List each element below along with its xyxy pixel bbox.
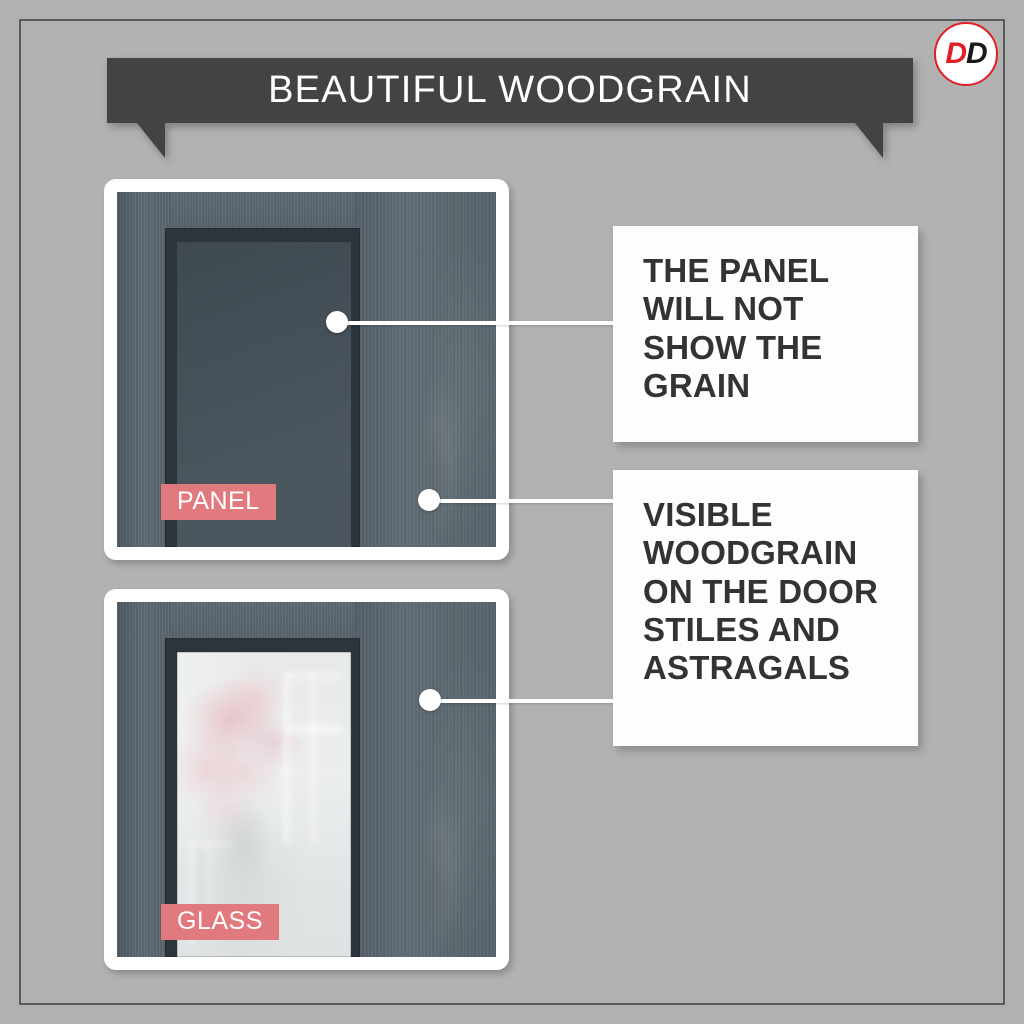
callout-line: WOODGRAIN <box>643 534 888 572</box>
dd-logo: DD <box>934 22 998 86</box>
callout-panel-no-grain: THE PANEL WILL NOT SHOW THE GRAIN <box>613 226 918 442</box>
tag-panel: PANEL <box>161 484 276 520</box>
callout-visible-woodgrain: VISIBLE WOODGRAIN ON THE DOOR STILES AND… <box>613 470 918 746</box>
callout-line: STILES AND <box>643 611 888 649</box>
callout-line: SHOW THE <box>643 329 888 367</box>
callout-line: ASTRAGALS <box>643 649 888 687</box>
connector-dot-stile-top <box>418 489 440 511</box>
connector-dot-panel <box>326 311 348 333</box>
callout-line: GRAIN <box>643 367 888 405</box>
title-banner: BEAUTIFUL WOODGRAIN <box>107 58 913 158</box>
tag-glass: GLASS <box>161 904 279 940</box>
callout-line: ON THE DOOR <box>643 573 888 611</box>
logo-letter-first: D <box>945 39 966 69</box>
callout-line: THE PANEL <box>643 252 888 290</box>
callout-line: VISIBLE <box>643 496 888 534</box>
connector-dot-stile-bottom <box>419 689 441 711</box>
page-title: BEAUTIFUL WOODGRAIN <box>107 58 913 123</box>
woodgrain-stile-bottom <box>354 602 496 957</box>
connector-line-stile-top <box>428 499 616 503</box>
callout-line: WILL NOT <box>643 290 888 328</box>
connector-line-stile-bottom <box>429 699 616 703</box>
logo-letter-second: D <box>966 39 987 69</box>
infographic-canvas: DD BEAUTIFUL WOODGRAIN <box>0 0 1024 1024</box>
connector-line-panel <box>336 321 616 325</box>
